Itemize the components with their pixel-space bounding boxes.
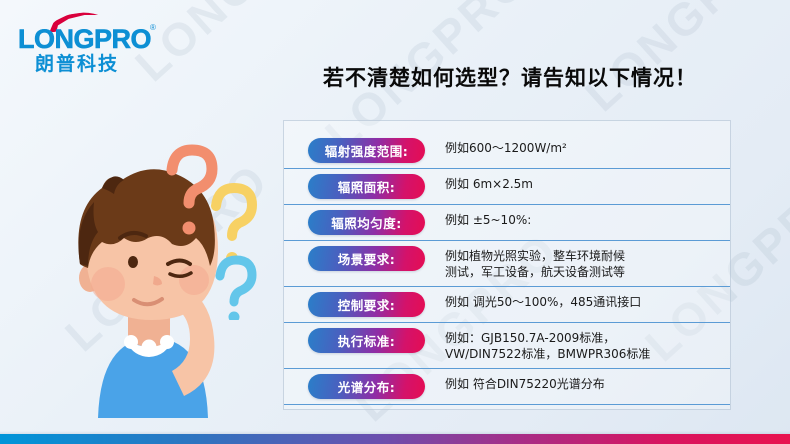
spec-value: 例如 ±5~10%: [445, 212, 716, 228]
spec-label-pill[interactable]: 执行标准: [308, 328, 425, 353]
spec-label-pill[interactable]: 辐照均匀度: [308, 210, 425, 235]
spec-row: 场景要求: 例如植物光照实验，整车环境耐候 测试，军工设备，航天设备测试等 [284, 241, 730, 287]
spec-request-panel: 辐射强度范围: 例如600～1200W/m² 辐照面积: 例如 6m×2.5m … [283, 120, 731, 410]
spec-row: 执行标准: 例如：GJB150.7A-2009标准， VW/DIN7522标准，… [284, 323, 730, 369]
spec-value: 例如 符合DIN75220光谱分布 [445, 376, 716, 392]
page-title: 若不清楚如何选型？请告知以下情况！ [285, 62, 735, 92]
spec-label-pill[interactable]: 辐射强度范围: [308, 138, 425, 163]
spec-value: 例如 6m×2.5m [445, 176, 716, 192]
spec-value: 例如：GJB150.7A-2009标准， VW/DIN7522标准，BMWPR3… [445, 330, 716, 362]
spec-value: 例如植物光照实验，整车环境耐候 测试，军工设备，航天设备测试等 [445, 248, 716, 280]
spec-label-pill[interactable]: 光谱分布: [308, 374, 425, 399]
spec-label-pill[interactable]: 辐照面积: [308, 174, 425, 199]
spec-row: 辐照均匀度: 例如 ±5~10%: [284, 205, 730, 241]
spec-label-pill[interactable]: 场景要求: [308, 246, 425, 271]
spec-value: 例如 调光50～100%，485通讯接口 [445, 294, 716, 310]
logo-name-cn: 朗普科技 [35, 49, 119, 76]
spec-value: 例如600～1200W/m² [445, 140, 716, 156]
logo-registered-icon: ® [150, 23, 156, 32]
spec-row: 光谱分布: 例如 符合DIN75220光谱分布 [284, 369, 730, 405]
spec-row: 辐射强度范围: 例如600～1200W/m² [284, 133, 730, 169]
bottom-accent-bar [0, 434, 790, 444]
brand-logo[interactable]: LONGPRO ® 朗普科技 [18, 13, 163, 67]
watermark-text: LONGPRO [574, 0, 790, 122]
slide-canvas: LONGPRO LONGPRO LONGPRO LONGPRO LONGPRO … [0, 0, 790, 444]
spec-label-pill[interactable]: 控制要求: [308, 292, 425, 317]
spec-row: 辐照面积: 例如 6m×2.5m [284, 169, 730, 205]
question-marks-icon [160, 140, 280, 320]
spec-row: 控制要求: 例如 调光50～100%，485通讯接口 [284, 287, 730, 323]
